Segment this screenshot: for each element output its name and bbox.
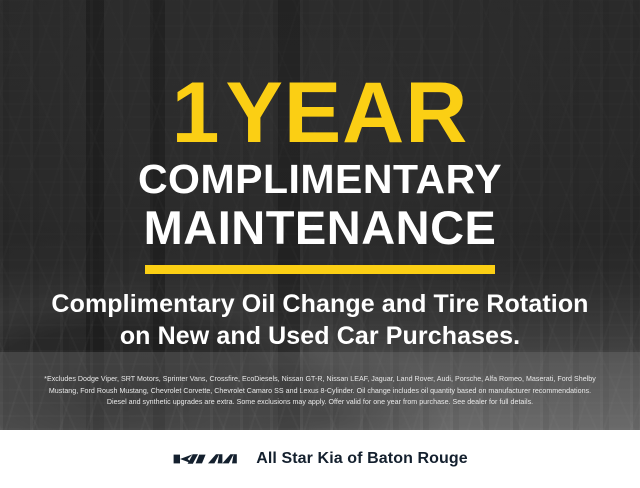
subheading-line-2: on New and Used Car Purchases. bbox=[51, 320, 588, 352]
subheading-line-1: Complimentary Oil Change and Tire Rotati… bbox=[51, 288, 588, 320]
yellow-divider-bar bbox=[145, 265, 495, 274]
advertisement-banner: 1YEAR COMPLIMENTARY MAINTENANCE Complime… bbox=[0, 0, 640, 488]
kia-logo bbox=[172, 449, 240, 469]
disclaimer-line-3: Diesel and synthetic upgrades are extra.… bbox=[10, 397, 630, 409]
disclaimer-text: *Excludes Dodge Viper, SRT Motors, Sprin… bbox=[0, 374, 640, 409]
disclaimer-line-2: Mustang, Ford Roush Mustang, Chevrolet C… bbox=[10, 386, 630, 398]
hero-content: 1YEAR COMPLIMENTARY MAINTENANCE Complime… bbox=[0, 0, 640, 430]
disclaimer-line-1: *Excludes Dodge Viper, SRT Motors, Sprin… bbox=[10, 374, 630, 386]
footer-bar: All Star Kia of Baton Rouge bbox=[0, 430, 640, 488]
headline-year-word: YEAR bbox=[225, 65, 468, 161]
headline-complimentary: COMPLIMENTARY bbox=[138, 159, 502, 200]
hero-section: 1YEAR COMPLIMENTARY MAINTENANCE Complime… bbox=[0, 0, 640, 430]
headline-primary: 1YEAR bbox=[172, 74, 469, 153]
headline-year-number: 1 bbox=[172, 65, 226, 161]
headline-maintenance: MAINTENANCE bbox=[144, 204, 497, 251]
subheading: Complimentary Oil Change and Tire Rotati… bbox=[51, 288, 588, 352]
dealer-name: All Star Kia of Baton Rouge bbox=[256, 450, 468, 468]
